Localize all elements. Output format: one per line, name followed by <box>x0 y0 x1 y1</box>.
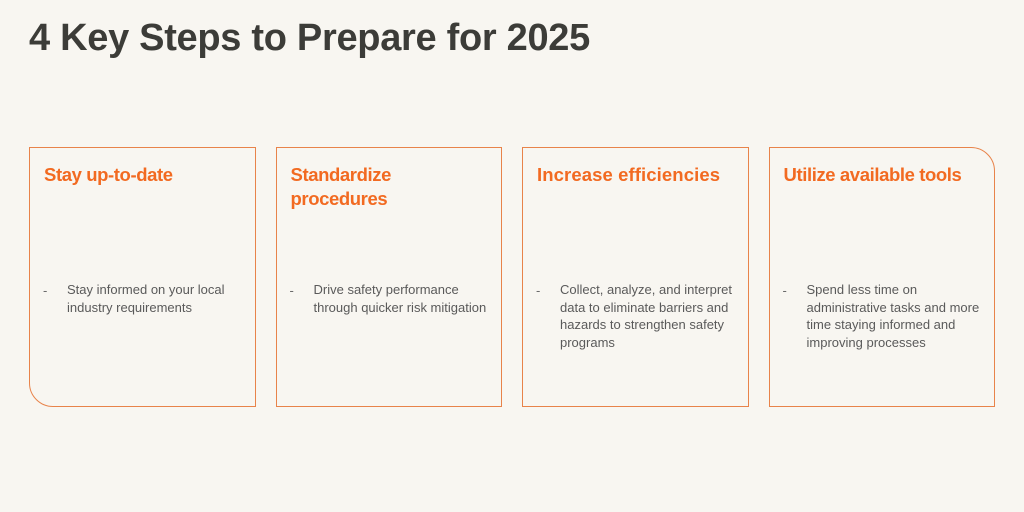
steps-card-row: Stay up-to-date - Stay informed on your … <box>29 147 995 407</box>
step-card-standardize-procedures[interactable]: Standardize procedures - Drive safety pe… <box>276 147 503 407</box>
step-card-body: - Stay informed on your local industry r… <box>43 281 246 316</box>
step-card-heading: Utilize available tools <box>784 163 985 187</box>
step-card-heading: Stay up-to-date <box>44 163 245 187</box>
page-title: 4 Key Steps to Prepare for 2025 <box>29 14 590 62</box>
slide-canvas: 4 Key Steps to Prepare for 2025 Stay up-… <box>0 0 1024 512</box>
step-card-body: - Drive safety performance through quick… <box>290 281 493 316</box>
step-card-increase-efficiencies[interactable]: Increase efficiencies - Collect, analyze… <box>522 147 749 407</box>
step-card-body: - Collect, analyze, and interpret data t… <box>536 281 739 351</box>
step-card-body-text: Collect, analyze, and interpret data to … <box>560 281 739 351</box>
step-card-body-text: Drive safety performance through quicker… <box>314 281 493 316</box>
step-card-utilize-available-tools[interactable]: Utilize available tools - Spend less tim… <box>769 147 996 407</box>
bullet-dash-icon: - <box>536 281 560 300</box>
step-card-heading: Increase efficiencies <box>537 163 738 187</box>
step-card-stay-up-to-date[interactable]: Stay up-to-date - Stay informed on your … <box>29 147 256 407</box>
bullet-dash-icon: - <box>290 281 314 300</box>
bullet-dash-icon: - <box>43 281 67 300</box>
step-card-body-text: Spend less time on administrative tasks … <box>807 281 986 351</box>
step-card-body-text: Stay informed on your local industry req… <box>67 281 246 316</box>
bullet-dash-icon: - <box>783 281 807 300</box>
step-card-heading: Standardize procedures <box>291 163 492 211</box>
step-card-body: - Spend less time on administrative task… <box>783 281 986 351</box>
